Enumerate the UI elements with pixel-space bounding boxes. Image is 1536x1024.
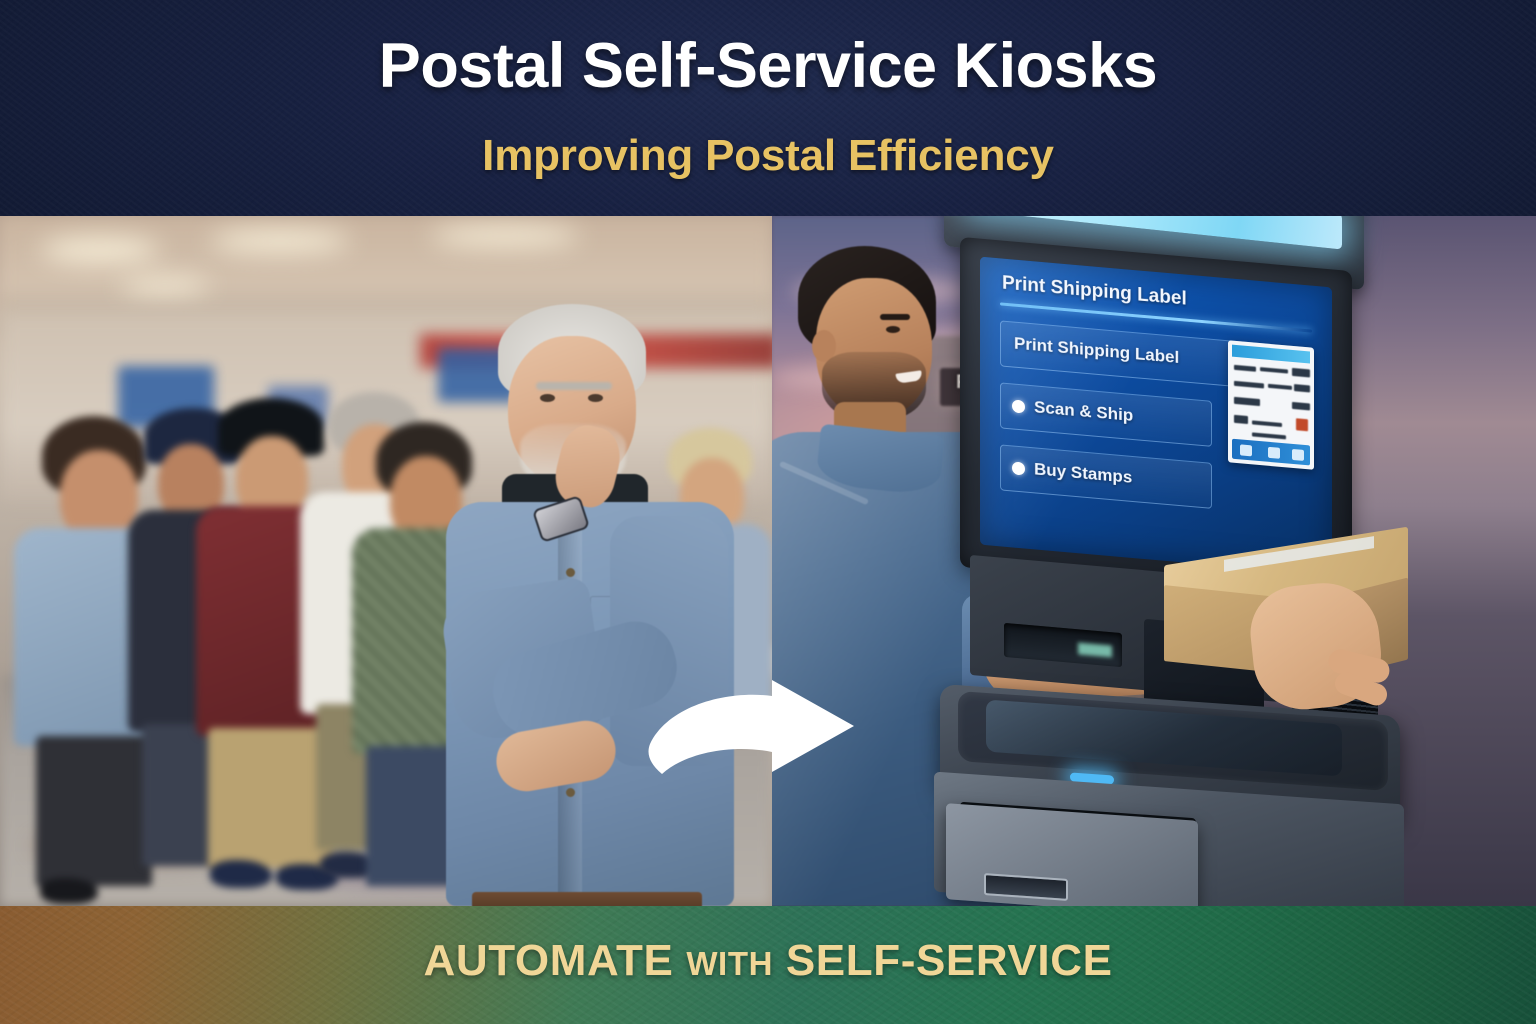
panel-self-service: PARCED DROPE (772, 216, 1536, 906)
eye (540, 394, 555, 402)
menu-item-label: Print Shipping Label (1014, 334, 1179, 368)
shirt-button (566, 568, 575, 577)
shipping-label-preview (1228, 340, 1314, 470)
footer-word-self-service: SELF-SERVICE (786, 936, 1113, 985)
menu-item-buy-stamps[interactable] (1000, 444, 1212, 509)
preview-icon (1268, 447, 1280, 459)
menu-item-label: Buy Stamps (1034, 459, 1132, 488)
kiosk-touchscreen[interactable]: Print Shipping Label Print Shipping Labe… (980, 257, 1332, 576)
preview-line (1292, 368, 1310, 378)
poster: Postal Self-Service Kiosks Improving Pos… (0, 0, 1536, 1024)
arrow-right-icon (648, 678, 858, 778)
preview-icon (1240, 444, 1252, 456)
radio-scan-and-ship[interactable] (1012, 399, 1025, 413)
radio-buy-stamps[interactable] (1012, 461, 1025, 475)
preview-line (1234, 381, 1264, 389)
page-subtitle: Improving Postal Efficiency (0, 131, 1536, 181)
title-underline (1000, 302, 1312, 332)
preview-line (1252, 432, 1286, 439)
eye (588, 394, 603, 402)
footer-word-automate: AUTOMATE (423, 936, 673, 985)
panel-crowded-queue (0, 216, 772, 906)
footer-banner: AUTOMATE WITH SELF-SERVICE (0, 906, 1536, 1024)
preview-icon (1292, 449, 1304, 461)
preview-line (1260, 367, 1288, 373)
ceiling-light (430, 226, 580, 246)
preview-line (1234, 397, 1260, 406)
transition-arrow (648, 678, 858, 778)
eyebrow (536, 382, 612, 390)
photo-stage: PARCED DROPE (0, 216, 1536, 906)
footer-tagline: AUTOMATE WITH SELF-SERVICE (0, 936, 1536, 986)
ceiling-light (40, 238, 160, 262)
preview-line (1252, 420, 1282, 427)
preview-line (1268, 384, 1292, 390)
preview-line (1234, 365, 1256, 372)
footer-word-with: WITH (686, 945, 773, 982)
frustrated-customer (440, 296, 740, 906)
eye (886, 326, 900, 333)
preview-line (1294, 384, 1310, 392)
menu-item-label: Scan & Ship (1034, 397, 1133, 426)
belt (472, 892, 702, 906)
ceiling-light (120, 278, 210, 294)
preview-header (1232, 345, 1310, 364)
menu-item-print-shipping-label[interactable] (1000, 320, 1312, 393)
preview-line (1234, 415, 1248, 424)
preview-line (1292, 402, 1310, 411)
eyebrow (880, 314, 910, 320)
shirt-button (566, 788, 575, 797)
menu-item-scan-and-ship[interactable] (1000, 382, 1212, 447)
preview-stamp (1296, 418, 1308, 431)
page-title: Postal Self-Service Kiosks (0, 30, 1536, 102)
preview-toolbar (1232, 439, 1310, 466)
ceiling-light (210, 230, 350, 252)
header-banner: Postal Self-Service Kiosks Improving Pos… (0, 0, 1536, 216)
